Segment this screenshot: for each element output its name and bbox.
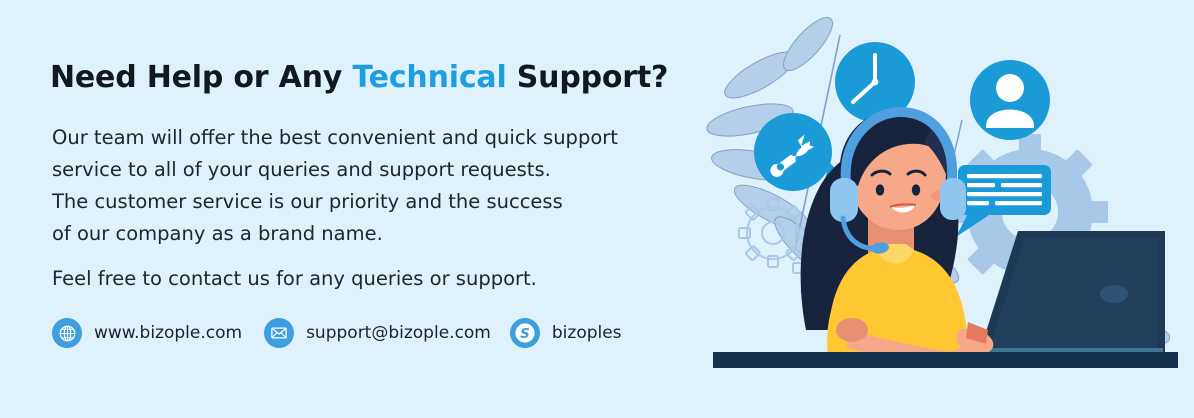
- contact-row: www.bizople.com support@bizople.com S: [52, 318, 622, 348]
- description-line: of our company as a brand name.: [52, 218, 742, 250]
- text-column: Need Help or Any Technical Support? Our …: [50, 0, 750, 418]
- contact-label-website: www.bizople.com: [94, 323, 242, 343]
- user-icon: [970, 60, 1050, 140]
- envelope-icon: [264, 318, 294, 348]
- contact-label-email: support@bizople.com: [306, 323, 491, 343]
- contact-label-skype: bizoples: [552, 323, 622, 343]
- gear-small-outline: [739, 199, 807, 267]
- page-title: Need Help or Any Technical Support?: [50, 60, 668, 95]
- description-line: The customer service is our priority and…: [52, 186, 742, 218]
- call-to-action-text: Feel free to contact us for any queries …: [52, 263, 742, 295]
- description-line: service to all of your queries and suppo…: [52, 154, 742, 186]
- description-paragraph: Our team will offer the best convenient …: [52, 122, 742, 250]
- support-illustration: [700, 0, 1194, 418]
- support-banner: Need Help or Any Technical Support? Our …: [0, 0, 1194, 418]
- skype-icon: S: [510, 318, 540, 348]
- svg-text:S: S: [520, 326, 530, 342]
- page-title-part1: Need Help or Any: [50, 60, 352, 95]
- contact-item-email[interactable]: support@bizople.com: [264, 318, 491, 348]
- description-line: Our team will offer the best convenient …: [52, 122, 742, 154]
- page-title-accent: Technical: [352, 60, 506, 95]
- illustration-svg: [700, 0, 1194, 418]
- page-title-part2: Support?: [507, 60, 669, 95]
- contact-item-skype[interactable]: S bizoples: [510, 318, 622, 348]
- globe-icon: [52, 318, 82, 348]
- contact-item-website[interactable]: www.bizople.com: [52, 318, 242, 348]
- desk-surface: [713, 352, 1178, 368]
